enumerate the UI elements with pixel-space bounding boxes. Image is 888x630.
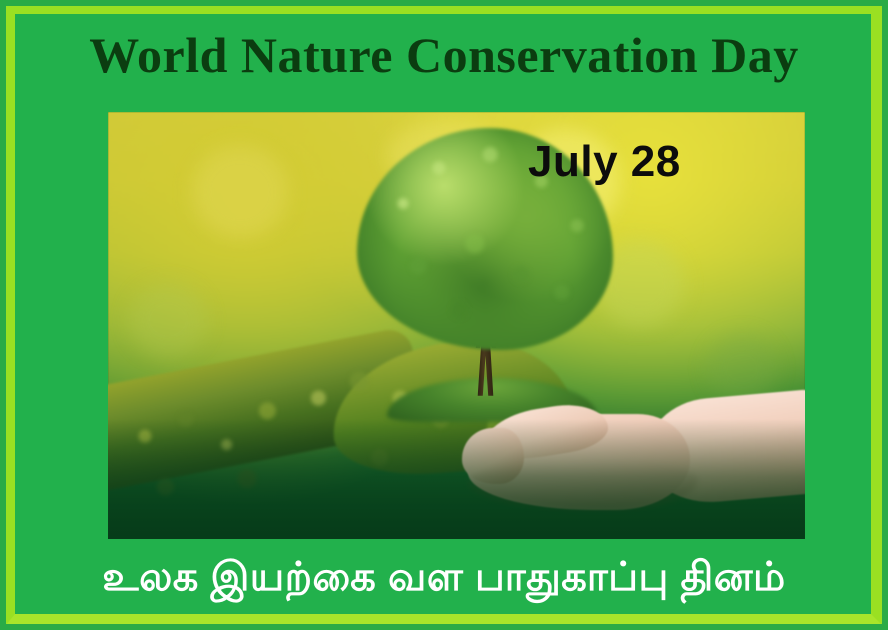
page-title: World Nature Conservation Day bbox=[0, 26, 888, 84]
hand-shadow bbox=[468, 462, 698, 510]
tamil-caption: உலக இயற்கை வள பாதுகாப்பு தினம் bbox=[0, 552, 888, 602]
date-label: July 28 bbox=[528, 136, 681, 188]
bokeh-highlight bbox=[192, 146, 288, 238]
poster: World Nature Conservation Day bbox=[0, 0, 888, 630]
conservation-photo bbox=[108, 112, 805, 539]
human-hand bbox=[460, 384, 805, 534]
